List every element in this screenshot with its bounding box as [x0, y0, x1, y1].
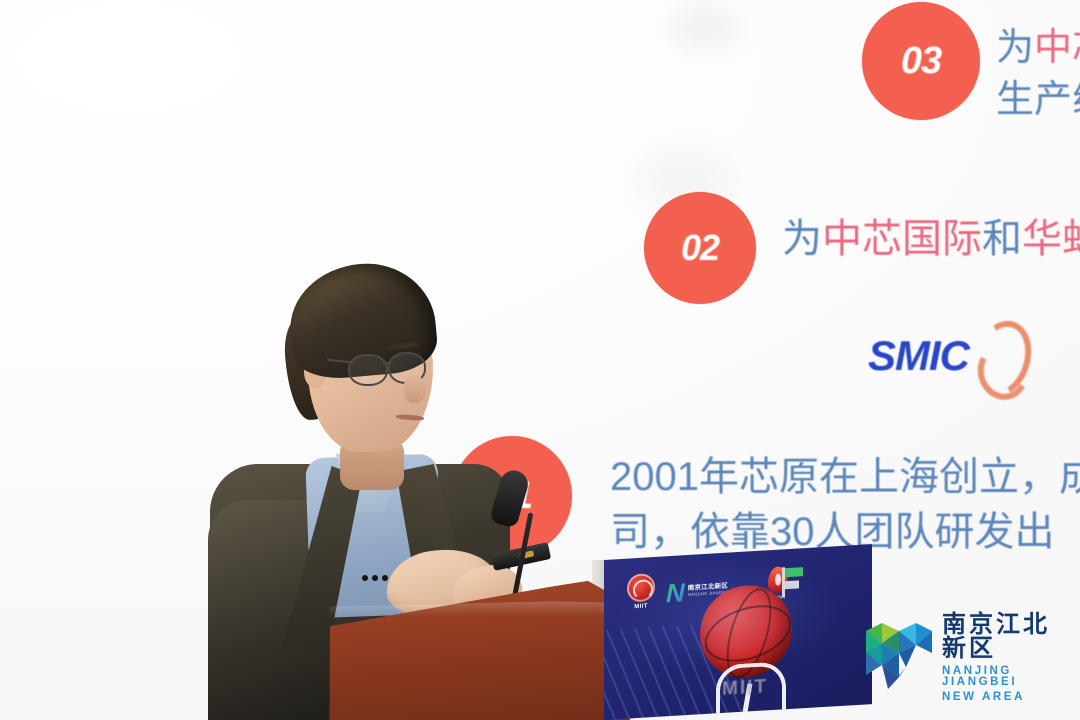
- slide-text-03-seg1: 为: [996, 27, 1034, 69]
- miit-logo: MIIT: [626, 573, 656, 617]
- miit-mark-icon: [627, 573, 655, 603]
- watermark-logo-icon: [866, 623, 932, 693]
- eyeglasses-left-lens-icon: [348, 354, 388, 386]
- red-globe-emblem: [700, 583, 792, 680]
- watermark-text-block: 南京江北新区 NANJING JIANGBEI NEW AREA: [942, 613, 1072, 704]
- photo-canvas: 03 为中芯 生产线 02 为中芯国际和华虹 SMIC 01 2001年芯原在上…: [0, 0, 1080, 720]
- watermark-en-line1: NANJING JIANGBEI: [942, 666, 1072, 689]
- slide-bullet-02-number: 02: [681, 227, 719, 269]
- watermark-en-line2: NEW AREA: [942, 692, 1072, 704]
- slide-text-03: 为中芯 生产线: [996, 22, 1080, 127]
- slide-text-02: 为中芯国际和华虹: [782, 212, 1080, 267]
- flame-emblem-logo: CHINA: [765, 566, 791, 608]
- slide-text-02-seg1: 为: [782, 217, 822, 261]
- njnew-text-block: 南京江北新区 NANJING JIANGBEI NEW AREA: [688, 582, 755, 597]
- flame-mark-icon: [768, 566, 788, 593]
- watermark-cn: 南京江北新区: [942, 613, 1072, 661]
- slide-text-03-line2: 生产线: [996, 74, 1080, 126]
- miit-caption: MIIT: [634, 603, 648, 610]
- slide-bullet-03-number: 03: [901, 40, 941, 83]
- eyeglasses-bridge-icon: [383, 362, 390, 364]
- nanjing-jiangbei-new-area-watermark: 南京江北新区 NANJING JIANGBEI NEW AREA: [866, 612, 1072, 704]
- smic-logo: SMIC: [862, 318, 1032, 390]
- slide-bullet-02: 02: [644, 192, 756, 304]
- banner-logo-row: MIIT N 南京江北新区 NANJING JIANGBEI NEW AREA …: [626, 565, 791, 617]
- smic-wordmark: SMIC: [868, 332, 969, 380]
- podium-backdrop-banner: MIIT N 南京江北新区 NANJING JIANGBEI NEW AREA …: [604, 544, 872, 720]
- emblem-flag-icon: [780, 566, 806, 598]
- slide-text-01: 2001年芯原在上海创立，成 司，依靠30人团队研发出: [610, 450, 1080, 560]
- slide-text-03-line1: 为中芯: [996, 22, 1080, 74]
- slide-text-02-seg4: 华虹: [1022, 217, 1080, 261]
- njnew-en: NANJING JIANGBEI NEW AREA: [688, 589, 755, 597]
- slide-bullet-03: 03: [862, 2, 980, 120]
- slide-text-03-seg3: 生产线: [996, 79, 1080, 121]
- njnew-cn: 南京江北新区: [688, 582, 755, 593]
- speaker-nose: [404, 375, 426, 403]
- slide-text-02-seg3: 和: [982, 217, 1022, 261]
- slide-text-03-seg2: 中芯: [1034, 27, 1080, 69]
- banner-wordmark: MIIT: [722, 676, 768, 701]
- njnew-n-mark-icon: N: [666, 579, 685, 606]
- screen-shadow-top: [640, 0, 770, 75]
- flame-caption: CHINA: [771, 594, 785, 600]
- slide-text-02-seg2: 中芯国际: [822, 217, 982, 261]
- slide-text-01-line1: 2001年芯原在上海创立，成: [610, 450, 1080, 505]
- nanjing-jiangbei-new-area-logo: N 南京江北新区 NANJING JIANGBEI NEW AREA: [666, 575, 755, 606]
